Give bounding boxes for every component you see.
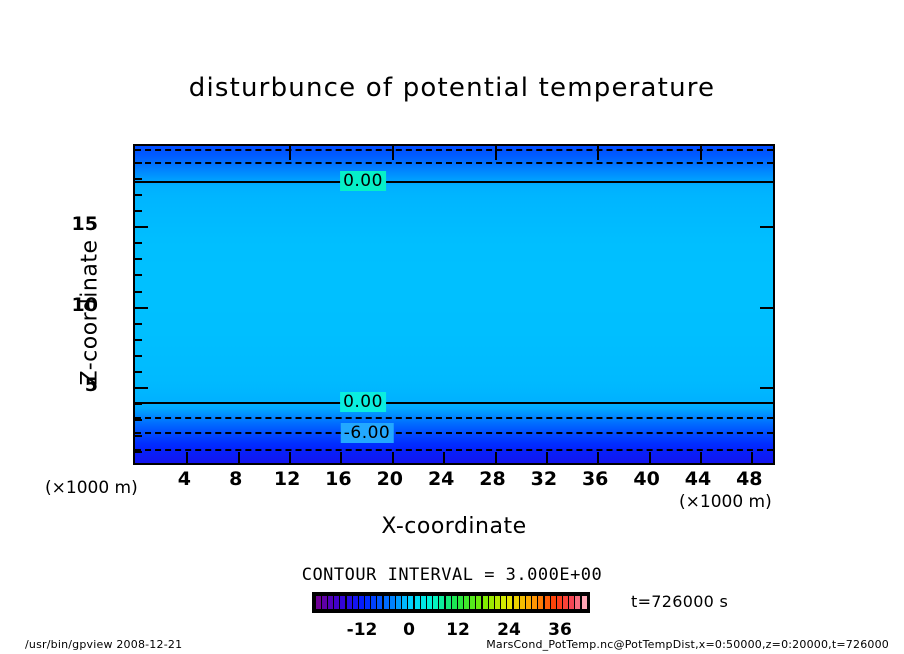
colorbar-cell [433,596,438,609]
colorbar-cell [439,596,444,609]
x-tick-40 [649,452,651,463]
colorbar-cell [390,596,395,609]
y-tick-7 [135,355,142,357]
colorbar-cell [489,596,494,609]
colorbar-cell [347,596,352,609]
colorbar-cell [322,596,327,609]
colorbar-cell [507,596,512,609]
x-tick-32 [546,452,548,463]
y-axis-unit-label: (×1000 m) [45,478,138,498]
x-tick-label-32: 32 [531,468,557,490]
y-tick-right-10 [760,307,773,309]
colorbar-cell [359,596,364,609]
colorbar-cell [340,596,345,609]
colorbar-cell [452,596,457,609]
colorbar-cell [353,596,358,609]
x-tick-48 [751,452,753,463]
y-tick-16 [135,210,142,212]
contour-label-zero-lower: 0.00 [340,392,386,412]
x-tick-top-44 [700,146,702,160]
colorbar-tick-label-12: 12 [446,620,470,640]
contour-line-neg9 [135,449,773,451]
colorbar-cell [402,596,407,609]
x-tick-label-12: 12 [274,468,300,490]
y-tick-9 [135,323,142,325]
footer-dataset-label: MarsCond_PotTemp.nc@PotTempDist,x=0:5000… [486,638,889,651]
x-tick-label-36: 36 [582,468,608,490]
y-tick-10 [135,307,148,309]
colorbar-cell [415,596,420,609]
colorbar-cell [557,596,562,609]
x-tick-top-28 [495,146,497,160]
colorbar-cell [421,596,426,609]
y-tick-1 [135,451,142,453]
y-tick-3 [135,419,142,421]
y-tick-18 [135,178,142,180]
y-tick-4 [135,403,142,405]
colorbar-cell [495,596,500,609]
contour-interval-label: CONTOUR INTERVAL = 3.000E+00 [0,565,904,585]
colorbar-cell [334,596,339,609]
x-tick-24 [443,452,445,463]
x-tick-label-4: 4 [178,468,191,490]
time-label: t=726000 s [631,592,728,611]
x-tick-36 [597,452,599,463]
colorbar-cell [514,596,519,609]
x-axis-title: X-coordinate [133,514,775,539]
colorbar-cell [384,596,389,609]
colorbar-cell [538,596,543,609]
contour-line-neg-upper-a [135,149,773,151]
colorbar-cell [582,596,587,609]
colorbar-cell [520,596,525,609]
y-tick-19 [135,162,142,164]
contour-line-zero-lower [135,402,773,404]
x-tick-4 [186,452,188,463]
x-tick-top-20 [392,146,394,160]
y-tick-15 [135,226,148,228]
x-tick-28 [495,452,497,463]
colorbar-cell [365,596,370,609]
colorbar-cell [575,596,580,609]
colorbar-cell [526,596,531,609]
colorbar-cell [396,596,401,609]
colorbar-cell [545,596,550,609]
contour-line-neg-upper-b [135,162,773,164]
y-axis-title: Z-coordinate [78,183,103,443]
y-tick-13 [135,258,142,260]
y-tick-right-15 [760,226,773,228]
colorbar-cell [371,596,376,609]
y-tick-2 [135,435,142,437]
colorbar-cell [446,596,451,609]
x-tick-44 [700,452,702,463]
colorbar-cell [532,596,537,609]
y-tick-8 [135,339,142,341]
colorbar-cell [476,596,481,609]
y-tick-14 [135,242,142,244]
x-axis-unit-label: (×1000 m) [679,492,772,512]
colorbar-tick-label-0: 0 [403,620,415,640]
colorbar-cell [408,596,413,609]
x-tick-label-24: 24 [428,468,454,490]
x-tick-label-40: 40 [633,468,659,490]
x-tick-12 [289,452,291,463]
colorbar-tick-label-36: 36 [548,620,572,640]
y-tick-5 [135,387,148,389]
colorbar-cell [316,596,321,609]
colorbar-cell [464,596,469,609]
colorbar-cell [470,596,475,609]
colorbar-cell [569,596,574,609]
colorbar-cell [563,596,568,609]
colorbar-cell [483,596,488,609]
colorbar-cell [377,596,382,609]
colorbar-tick-label-24: 24 [497,620,521,640]
x-tick-label-48: 48 [736,468,762,490]
y-tick-6 [135,371,142,373]
contour-plot-area[interactable]: 0.00 0.00 -6.00 [133,144,775,465]
footer-command-label: /usr/bin/gpview 2008-12-21 [25,638,182,651]
x-tick-label-20: 20 [377,468,403,490]
y-tick-right-5 [760,387,773,389]
contour-line-neg6 [135,432,773,434]
colorbar-tick-label-neg12: -12 [347,620,378,640]
contour-line-neg3 [135,417,773,419]
contour-label-neg6: -6.00 [341,423,394,443]
contour-label-zero-upper: 0.00 [340,171,386,191]
x-tick-label-8: 8 [229,468,242,490]
y-tick-17 [135,194,142,196]
temperature-field-gradient [135,146,773,463]
x-tick-top-36 [597,146,599,160]
colorbar-cell [501,596,506,609]
contour-line-zero-upper [135,181,773,183]
colorbar-cell [427,596,432,609]
page-title: disturbunce of potential temperature [0,73,904,103]
colorbar-cell [328,596,333,609]
colorbar[interactable] [312,592,590,613]
y-tick-12 [135,274,142,276]
x-tick-label-16: 16 [325,468,351,490]
x-tick-label-28: 28 [479,468,505,490]
x-tick-label-44: 44 [685,468,711,490]
x-tick-top-12 [289,146,291,160]
x-tick-8 [238,452,240,463]
colorbar-cell [458,596,463,609]
colorbar-cell [551,596,556,609]
x-tick-20 [392,452,394,463]
y-tick-11 [135,291,142,293]
x-tick-16 [340,452,342,463]
